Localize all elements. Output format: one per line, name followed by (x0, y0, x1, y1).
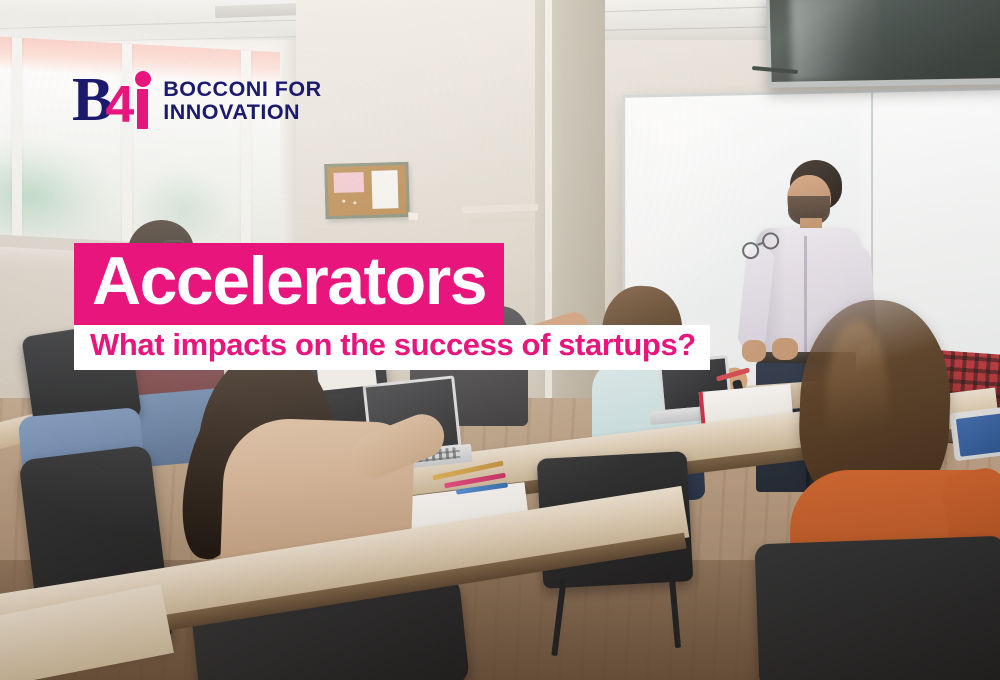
instructor-hand-left (742, 340, 766, 362)
pinned-note-pink (333, 172, 364, 193)
cork-bulletin-board (324, 162, 410, 219)
pinned-note-white (371, 170, 398, 209)
push-pin (342, 200, 345, 203)
light-switch (408, 212, 419, 221)
tablet-screen (956, 413, 1000, 457)
logo-i-dot-icon (135, 71, 151, 87)
b4i-logo: B 4 BOCCONI FOR INNOVATION (72, 72, 322, 129)
instructor-shirt-placket (804, 236, 807, 354)
logo-wordmark: BOCCONI FOR INNOVATION (163, 78, 321, 124)
title-band: Accelerators (74, 243, 504, 326)
logo-wordmark-line-1: BOCCONI FOR (163, 78, 321, 101)
page-subtitle: What impacts on the success of startups? (90, 329, 696, 362)
logo-i-stem-icon (137, 89, 148, 129)
wall-mounted-tv (766, 0, 1000, 88)
instructor-hand-right (772, 338, 798, 360)
window (0, 36, 280, 252)
subtitle-band: What impacts on the success of startups? (74, 325, 710, 370)
office-chair (755, 536, 1000, 680)
window-mullion (12, 37, 22, 238)
tv-screen-glare (790, 0, 881, 82)
push-pin (353, 201, 356, 204)
student-hair-highlight (826, 320, 888, 480)
logo-wordmark-line-2: INNOVATION (163, 101, 321, 124)
logo-digit-4: 4 (105, 79, 134, 131)
slide-canvas: B 4 BOCCONI FOR INNOVATION Accelerators … (0, 0, 1000, 680)
b4i-logomark: B 4 (72, 72, 150, 129)
page-title: Accelerators (92, 247, 486, 316)
logo-letter-i-icon (135, 73, 150, 129)
